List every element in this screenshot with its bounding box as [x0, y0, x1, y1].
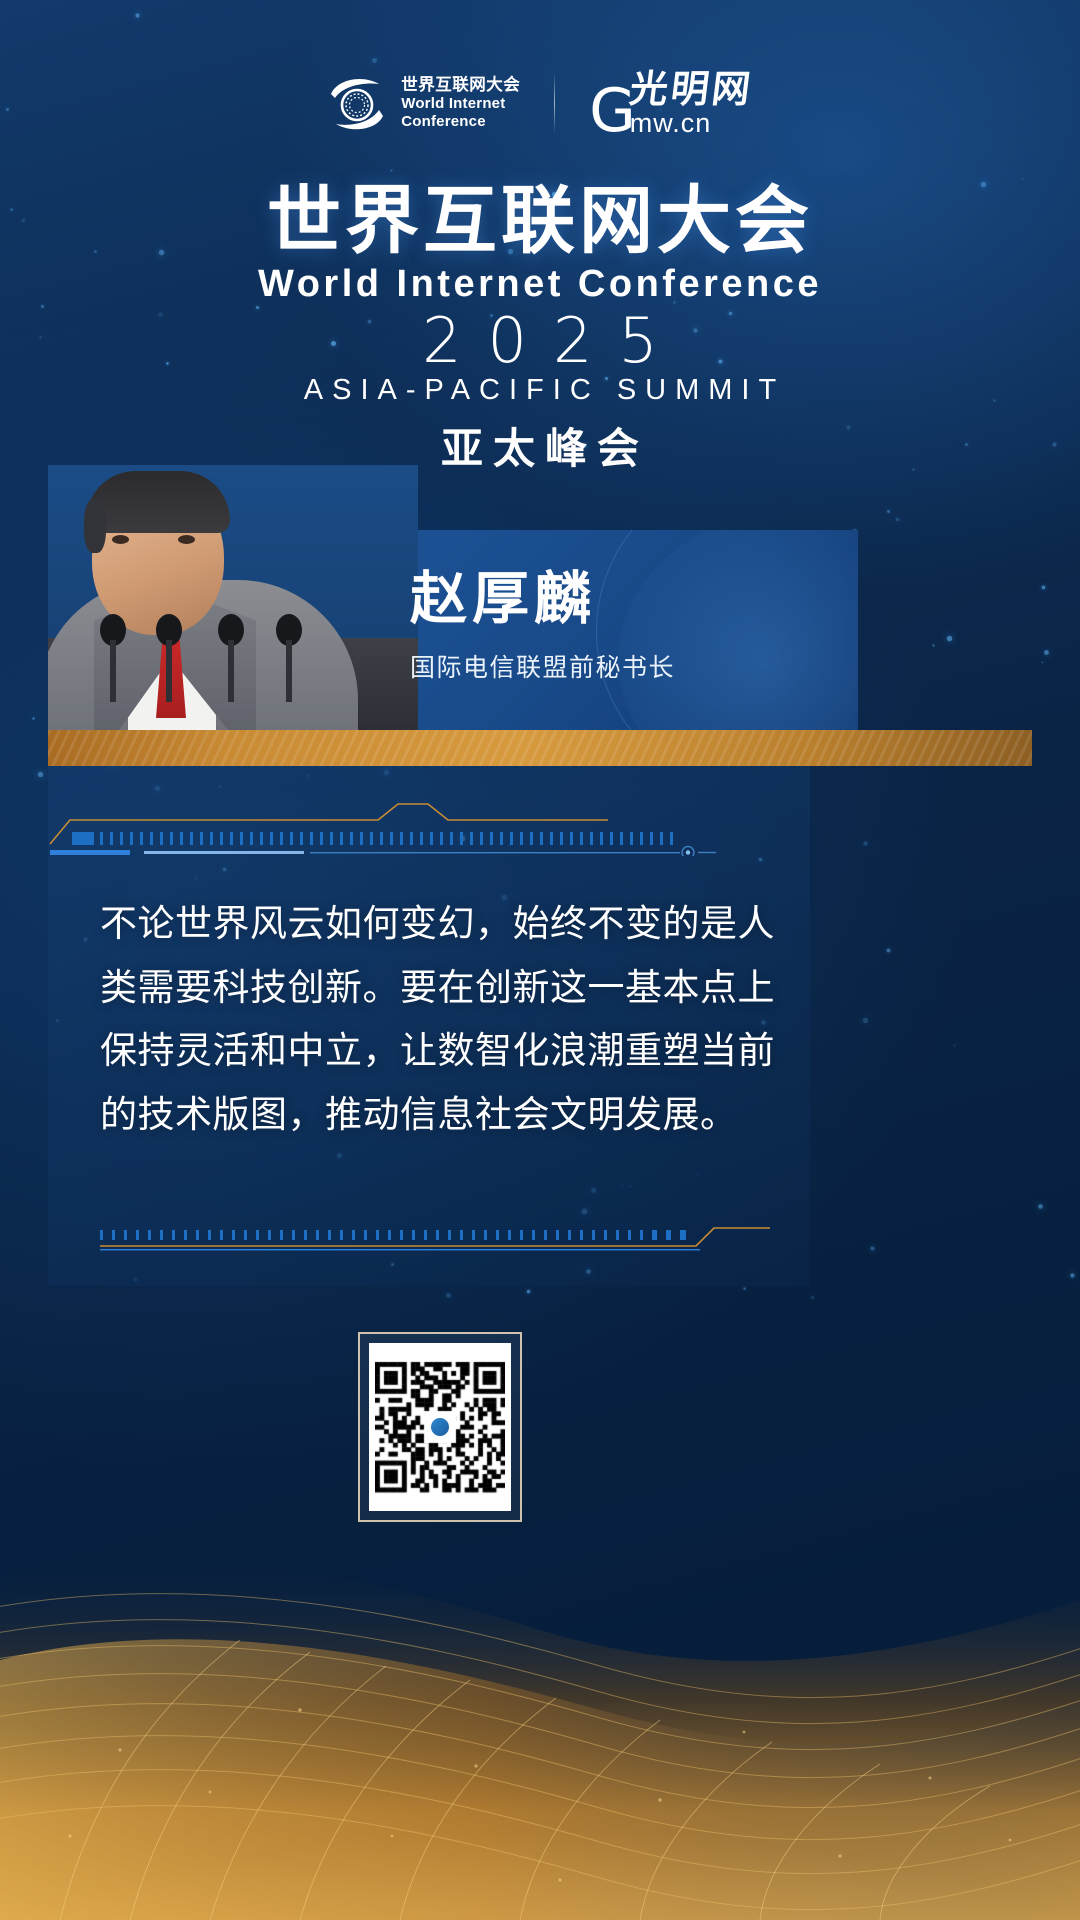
qr-code[interactable]	[358, 1332, 522, 1522]
title-year: 2025	[0, 308, 1080, 373]
divider-bottom	[100, 1222, 770, 1258]
title-summit-en: ASIA-PACIFIC SUMMIT	[0, 375, 1080, 407]
wic-spiral-logo-icon	[327, 72, 387, 134]
microphone-icon	[156, 614, 182, 702]
gold-accent-bar	[48, 730, 1032, 766]
microphone-icon	[276, 614, 302, 702]
divider-top	[48, 796, 718, 856]
speaker-section: 赵厚麟 国际电信联盟前秘书长	[48, 530, 1032, 790]
wic-logo-text: 世界互联网大会 World Internet Conference	[401, 76, 520, 130]
speaker-title: 国际电信联盟前秘书长	[410, 648, 858, 684]
gold-wave-decoration	[0, 1280, 1080, 1920]
title-en: World Internet Conference	[0, 264, 1080, 306]
wic-logo-cn: 世界互联网大会	[401, 76, 520, 95]
gmw-round-badge-icon	[427, 1414, 453, 1440]
poster-root: 世界互联网大会 World Internet Conference G 光明网 …	[0, 0, 1080, 1920]
wic-logo-en-line1: World Internet	[401, 95, 520, 112]
microphone-icon	[218, 614, 244, 702]
logo-divider	[554, 72, 555, 134]
gmw-logo-en: mw.cn	[630, 110, 753, 137]
title-cn: 世界互联网大会	[0, 182, 1080, 260]
speaker-name: 赵厚麟	[410, 570, 858, 630]
gmw-logo-cn: 光明网	[627, 70, 755, 108]
microphone-icon	[100, 614, 126, 702]
wic-logo-en-line2: Conference	[401, 113, 520, 130]
wic-logo: 世界互联网大会 World Internet Conference	[327, 72, 520, 134]
quote-text: 不论世界风云如何变幻，始终不变的是人类需要科技创新。要在创新这一基本点上保持灵活…	[100, 892, 780, 1147]
conference-title-block: 世界互联网大会 World Internet Conference 2025 A…	[0, 182, 1080, 476]
gmw-logo: G 光明网 mw.cn	[589, 70, 753, 137]
qr-inner	[369, 1343, 511, 1511]
header-logo-row: 世界互联网大会 World Internet Conference G 光明网 …	[0, 66, 1080, 140]
